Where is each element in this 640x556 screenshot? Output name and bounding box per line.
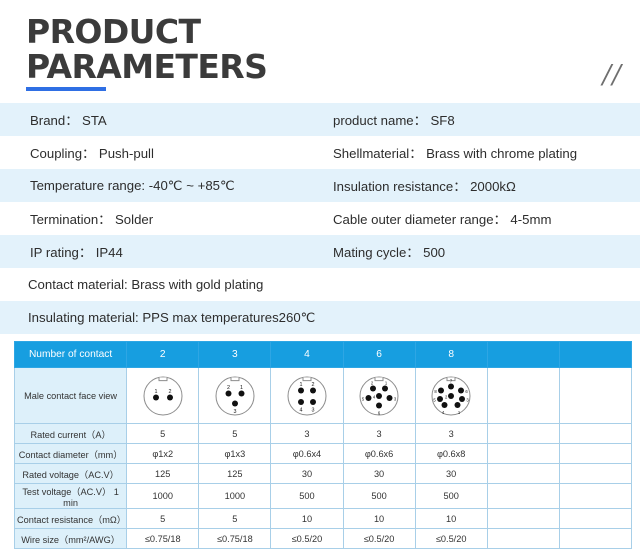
spec-table-container: Number of contact 2 3 4 6 8 Male contact…	[14, 341, 632, 549]
table-row: Contact diameter（mm） φ1x2 φ1x3 φ0.6x4 φ0…	[15, 444, 632, 464]
parameter-left: Coupling： Push-pull	[0, 143, 333, 162]
parameter-row: Insulating material: PPS max temperature…	[0, 301, 640, 334]
table-cell: ≤0.5/20	[343, 529, 415, 549]
table-row: Contact resistance（mΩ） 5 5 10 10 10	[15, 509, 632, 529]
parameter-full: Contact material: Brass with gold platin…	[0, 277, 640, 292]
title-line-2: PARAMETERS	[26, 49, 267, 84]
title-underline-accent	[26, 87, 106, 91]
svg-text:1: 1	[154, 388, 157, 394]
table-cell: 30	[415, 464, 487, 484]
parameter-list: Brand： STA product name： SF8 Coupling： P…	[0, 103, 640, 334]
parameter-right: Insulation resistance： 2000kΩ	[333, 176, 640, 195]
connector-face-2pin-icon: 12	[127, 368, 199, 424]
parameter-right: product name： SF8	[333, 110, 640, 129]
table-cell	[487, 529, 559, 549]
table-cell: 1000	[199, 484, 271, 509]
parameter-full: Insulating material: PPS max temperature…	[0, 310, 640, 326]
table-cell	[487, 464, 559, 484]
table-cell: 125	[127, 464, 199, 484]
table-cell: 3	[343, 424, 415, 444]
table-cell: 125	[199, 464, 271, 484]
table-cell: 3	[271, 424, 343, 444]
table-cell	[559, 464, 631, 484]
table-row: Rated voltage（AC.V） 125 125 30 30 30	[15, 464, 632, 484]
svg-text:1: 1	[240, 384, 243, 390]
column-header-6: 6	[343, 342, 415, 368]
table-cell: 500	[343, 484, 415, 509]
row-label: Rated voltage（AC.V）	[15, 464, 127, 484]
table-cell: 30	[343, 464, 415, 484]
column-header-4: 4	[271, 342, 343, 368]
table-cell	[487, 509, 559, 529]
parameter-row: Contact material: Brass with gold platin…	[0, 268, 640, 301]
product-parameters-page: PRODUCT PARAMETERS // Brand： STA product…	[0, 0, 640, 556]
connector-face-empty-1	[487, 368, 559, 424]
column-header-3: 3	[199, 342, 271, 368]
row-label: Rated current（A）	[15, 424, 127, 444]
page-header: PRODUCT PARAMETERS //	[0, 0, 640, 103]
table-cell	[559, 509, 631, 529]
parameter-left: Temperature range: -40℃ ~ +85℃	[0, 178, 333, 194]
table-cell: 500	[415, 484, 487, 509]
parameter-right: Shellmaterial： Brass with chrome plating	[333, 143, 640, 162]
row-label: Contact diameter（mm）	[15, 444, 127, 464]
table-cell: 5	[127, 424, 199, 444]
parameter-right: Mating cycle： 500	[333, 242, 640, 261]
parameter-row: IP rating： IP44 Mating cycle： 500	[0, 235, 640, 268]
table-cell: ≤0.5/20	[271, 529, 343, 549]
page-title: PRODUCT PARAMETERS	[26, 14, 267, 91]
parameter-right: Cable outer diameter range： 4-5mm	[333, 209, 640, 228]
table-cell: 30	[271, 464, 343, 484]
table-cell	[559, 424, 631, 444]
table-cell	[487, 484, 559, 509]
table-cell	[487, 444, 559, 464]
connector-face-empty-2	[559, 368, 631, 424]
table-cell: 1000	[127, 484, 199, 509]
parameter-row: Brand： STA product name： SF8	[0, 103, 640, 136]
table-header-row: Number of contact 2 3 4 6 8	[15, 342, 632, 368]
parameter-left: IP rating： IP44	[0, 242, 333, 261]
table-cell: φ0.6x4	[271, 444, 343, 464]
table-cell: 10	[271, 509, 343, 529]
table-row: Rated current（A） 5 5 3 3 3	[15, 424, 632, 444]
row-label: Contact resistance（mΩ）	[15, 509, 127, 529]
svg-text:2: 2	[227, 384, 230, 390]
spec-table: Number of contact 2 3 4 6 8 Male contact…	[14, 341, 632, 549]
table-cell	[487, 424, 559, 444]
row-label: Wire size（mm²/AWG）	[15, 529, 127, 549]
svg-text:2: 2	[168, 388, 171, 394]
table-cell: φ0.6x8	[415, 444, 487, 464]
table-cell	[559, 444, 631, 464]
table-cell	[559, 529, 631, 549]
title-line-1: PRODUCT	[26, 14, 267, 49]
parameter-row: Coupling： Push-pull Shellmaterial： Brass…	[0, 136, 640, 169]
column-header-2: 2	[127, 342, 199, 368]
table-cell: ≤0.75/18	[127, 529, 199, 549]
parameter-row: Temperature range: -40℃ ~ +85℃ Insulatio…	[0, 169, 640, 202]
table-row: Wire size（mm²/AWG） ≤0.75/18 ≤0.75/18 ≤0.…	[15, 529, 632, 549]
connector-face-8pin-icon: 87652341	[415, 368, 487, 424]
table-cell: 500	[271, 484, 343, 509]
column-header-8: 8	[415, 342, 487, 368]
svg-text:1: 1	[299, 381, 302, 387]
table-cell: 5	[199, 424, 271, 444]
table-cell: 10	[415, 509, 487, 529]
row-label: Test voltage（AC.V） 1 min	[15, 484, 127, 509]
table-row-face-view: Male contact face view 12 213 1243 21453…	[15, 368, 632, 424]
column-header-empty-2	[559, 342, 631, 368]
slash-decoration-icon: //	[602, 62, 622, 88]
svg-text:4: 4	[299, 407, 302, 413]
svg-text:3: 3	[233, 408, 236, 414]
table-cell: 5	[127, 509, 199, 529]
parameter-left: Brand： STA	[0, 110, 333, 129]
table-cell: 3	[415, 424, 487, 444]
table-cell: φ1x2	[127, 444, 199, 464]
table-cell: φ1x3	[199, 444, 271, 464]
connector-face-3pin-icon: 213	[199, 368, 271, 424]
table-row: Test voltage（AC.V） 1 min 1000 1000 500 5…	[15, 484, 632, 509]
column-header-number-of-contact: Number of contact	[15, 342, 127, 368]
svg-text:2: 2	[311, 381, 314, 387]
connector-face-4pin-icon: 1243	[271, 368, 343, 424]
parameter-left: Termination： Solder	[0, 209, 333, 228]
svg-text:3: 3	[311, 407, 314, 413]
connector-face-6pin-icon: 214536	[343, 368, 415, 424]
table-cell: 5	[199, 509, 271, 529]
table-cell	[559, 484, 631, 509]
table-cell: ≤0.5/20	[415, 529, 487, 549]
table-cell: φ0.6x6	[343, 444, 415, 464]
parameter-row: Termination： Solder Cable outer diameter…	[0, 202, 640, 235]
column-header-empty-1	[487, 342, 559, 368]
row-label-face-view: Male contact face view	[15, 368, 127, 424]
table-cell: ≤0.75/18	[199, 529, 271, 549]
table-cell: 10	[343, 509, 415, 529]
